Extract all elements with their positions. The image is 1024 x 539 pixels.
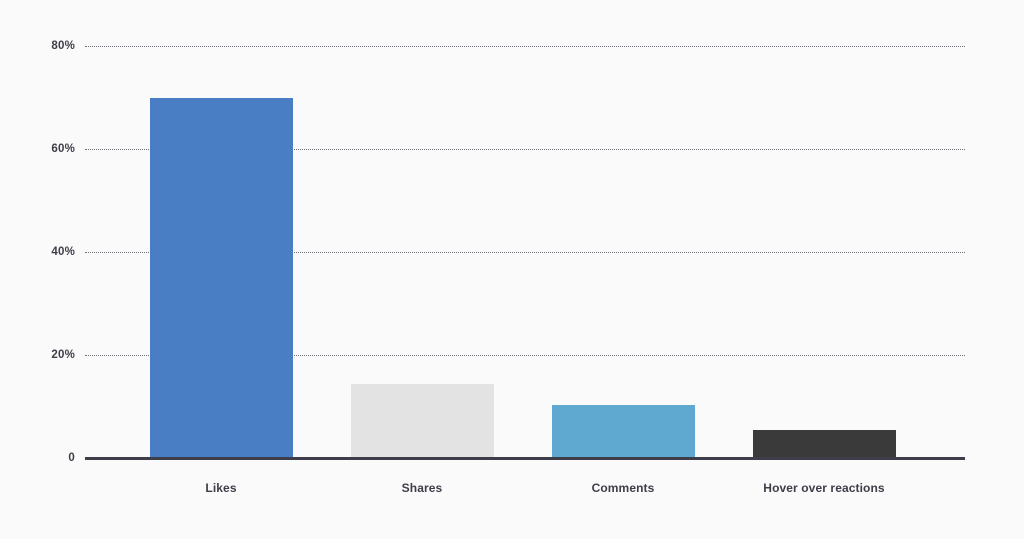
x-tick-label-shares: Shares [312, 481, 532, 495]
y-tick-label-20: 20% [5, 349, 75, 361]
y-tick-label-40: 40% [5, 246, 75, 258]
y-tick-label-60: 60% [5, 143, 75, 155]
bar-comments[interactable] [552, 405, 695, 458]
x-tick-label-comments: Comments [513, 481, 733, 495]
bar-shares[interactable] [351, 384, 494, 458]
y-tick-label-80: 80% [5, 40, 75, 52]
x-tick-label-hover-over-reactions: Hover over reactions [714, 481, 934, 495]
bar-chart: 80% 60% 40% 20% 0 Likes Shares Comments … [0, 0, 1024, 539]
x-axis-line [85, 457, 965, 460]
bar-likes[interactable] [150, 98, 293, 459]
y-tick-label-0: 0 [5, 452, 75, 464]
y-axis: 80% 60% 40% 20% 0 [0, 0, 75, 539]
bars-layer [85, 46, 965, 458]
bar-hover-over-reactions[interactable] [753, 430, 896, 458]
x-tick-label-likes: Likes [111, 481, 331, 495]
